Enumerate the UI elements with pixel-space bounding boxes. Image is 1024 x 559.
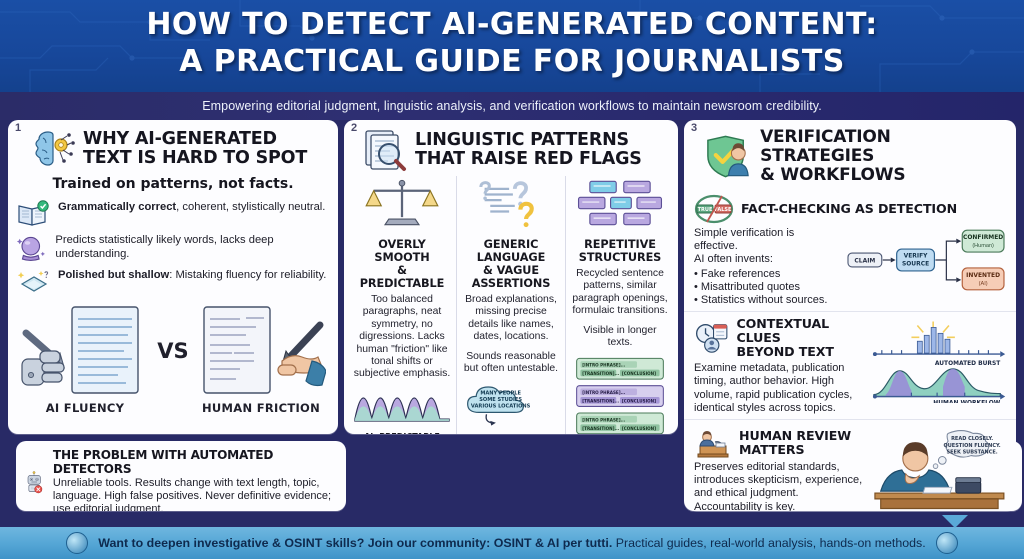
section-1-intro-line1: Simple verification is effective. [694, 227, 841, 253]
flow-confirmed-line1: CONFIRMED [963, 234, 1003, 241]
flow-verify-line1: VERIFY [904, 253, 929, 260]
cloud-line-2: SOME STUDIES [479, 398, 522, 404]
page-title-line1: HOW TO DETECT AI-GENERATED CONTENT: [0, 7, 1024, 43]
svg-text:[TRANSITION]...: [TRANSITION]... [582, 372, 619, 377]
robot-hand-writing-icon [20, 303, 150, 399]
caption-human-friction: HUMAN FRICTION [196, 401, 326, 415]
repeating-blocks-icon [571, 176, 669, 230]
section-human-review: HUMAN REVIEW MATTERS Preserves editorial… [684, 419, 1016, 511]
question-marks-text-icon [462, 176, 560, 230]
section-1-text: Simple verification is effective. AI oft… [694, 227, 841, 307]
svg-text:[CONCLUSION]: [CONCLUSION] [622, 372, 656, 377]
section-1-list: Fake references Misattributed quotes Sta… [694, 268, 841, 308]
panel-2-title-line1: LINGUISTIC PATTERNS [415, 131, 642, 151]
bullet-polished-but-shallow: Polished but shallow: Mistaking fluency … [8, 266, 338, 299]
thinking-journalist-illustration: READ CLOSELY. QUESTION FLUENCY. SEEK SUB… [873, 428, 1006, 511]
chart-label-automated-burst: AUTOMATED BURST [935, 361, 1000, 367]
section-3-title-line1: HUMAN REVIEW [739, 429, 851, 443]
compare-captions: AI FLUENCY HUMAN FRICTION [8, 401, 338, 421]
ai-predictable-waveform-chart [353, 386, 451, 424]
flow-claim-label: CLAIM [854, 257, 875, 264]
editor-desk-icon [694, 428, 732, 458]
shield-check-person-icon [702, 134, 753, 180]
bullet-predicts-statistically: Predicts statistically likely words, lac… [8, 231, 338, 266]
clock-calendar-profile-icon [694, 321, 730, 355]
section-3-body: Preserves editorial standards, introduce… [694, 461, 867, 511]
robot-error-icon [25, 457, 44, 507]
panel-2-title-line2: THAT RAISE RED FLAGS [415, 150, 642, 170]
column-3: 3 VERIFICATION STRATEGIES & WORKFLOWS [684, 120, 1016, 511]
panel-1-lead: Trained on patterns, not facts. [8, 176, 338, 192]
panel-problem-with-automated-detectors: THE PROBLEM WITH AUTOMATED DETECTORS Unr… [16, 441, 346, 511]
specific-facts-callout: NAME:John Doe DATE:Oct 26 LOCATION:Londo… [462, 432, 560, 434]
thought-line-1: READ CLOSELY. [951, 436, 993, 442]
panel-3-title-line2: & WORKFLOWS [760, 166, 1006, 185]
bullet-1-rest: , coherent, stylistically neutral. [176, 201, 325, 213]
cell-2-body2: Sounds reasonable but often untestable. [464, 351, 558, 374]
section-3-title-line2: MATTERS [739, 443, 851, 457]
page-footer[interactable]: Want to deepen investigative & OSINT ski… [0, 527, 1024, 559]
pattern-cell-overly-smooth: OVERLY SMOOTH& PREDICTABLE Too balanced … [348, 176, 456, 434]
svg-text:[INTRO PHRASE]...: [INTRO PHRASE]... [582, 390, 625, 395]
pattern-cell-generic-language: GENERIC LANGUAGE& VAGUE ASSERTIONS Broad… [456, 176, 565, 434]
bottom-card-1-text: Unreliable tools. Results change with te… [53, 477, 337, 511]
flow-verify-line2: SOURCE [902, 261, 929, 268]
cell-3-caption-line2: STRUCTURES [579, 251, 661, 264]
bullet-1-bold: Grammatically correct [58, 201, 176, 213]
subtitle-band: Empowering editorial judgment, linguisti… [0, 92, 1024, 120]
bullet-3-bold: Polished but shallow [58, 269, 169, 281]
bullet-3-rest: : Mistaking fluency for reliability. [169, 269, 326, 281]
cloud-line-3: VARIOUS LOCATIONS [471, 404, 531, 410]
bottom-card-1-title: THE PROBLEM WITH AUTOMATED DETECTORS [53, 448, 337, 476]
flow-invented-line1: INVENTED [966, 272, 1000, 279]
column-2: 2 LINGUISTIC PATTERNS THAT RAISE RED FLA… [344, 120, 678, 434]
balance-scale-icon [353, 176, 451, 230]
list-item: Misattributed quotes [694, 281, 841, 294]
svg-text:[INTRO PHRASE]...: [INTRO PHRASE]... [582, 418, 625, 423]
stamp-true-label: TRUE [698, 207, 713, 213]
brain-gear-icon [30, 128, 76, 170]
section-fact-checking: TRUE FALSE FACT-CHECKING AS DETECTION Si… [684, 189, 1016, 311]
footer-bold-text: Want to deepen investigative & OSINT ski… [98, 536, 612, 550]
vague-claims-cloud-icon: MANY PEOPLE SOME STUDIES VARIOUS LOCATIO… [462, 379, 560, 427]
svg-text:[CONCLUSION]: [CONCLUSION] [622, 426, 656, 431]
panel-linguistic-patterns: 2 LINGUISTIC PATTERNS THAT RAISE RED FLA… [344, 120, 678, 434]
list-item: Statistics without sources. [694, 294, 841, 307]
flow-invented-line2: (AI) [979, 281, 988, 287]
page-subtitle: Empowering editorial judgment, linguisti… [202, 99, 822, 113]
stamp-false-label: FALSE [715, 207, 732, 213]
bullet-grammatically-correct: Grammatically correct, coherent, stylist… [8, 198, 338, 231]
svg-text:[CONCLUSION]: [CONCLUSION] [622, 399, 656, 404]
thought-line-2: QUESTION FLUENCY. [944, 443, 1001, 449]
verification-flow-diagram: CLAIM VERIFY SOURCE CONFIRMED (Human) IN… [847, 227, 1006, 293]
panel-number-2: 2 [351, 122, 357, 134]
main-content: 1 WHY AI-GENERATED TEXT IS HARD TO SPOT … [0, 120, 1024, 525]
open-book-check-icon [16, 200, 50, 228]
template-structure-boxes: [INTRO PHRASE]... [TRANSITION]... [CONCL… [571, 354, 669, 434]
vs-label: VS [157, 339, 188, 363]
cell-3-body2: Visible in longer texts. [583, 325, 656, 348]
cell-2-body: Broad explanations, missing precise deta… [465, 294, 557, 342]
cell-2-caption-line1: GENERIC LANGUAGE [477, 238, 545, 264]
panel-1-title-line2: TEXT IS HARD TO SPOT [83, 149, 307, 169]
crystal-ball-icon [16, 233, 47, 263]
page-title-line2: A PRACTICAL GUIDE FOR JOURNALISTS [0, 43, 1024, 80]
section-1-intro-line2: AI often invents: [694, 253, 841, 266]
panel-why-ai-text-is-hard-to-spot: 1 WHY AI-GENERATED TEXT IS HARD TO SPOT … [8, 120, 338, 434]
compare-ai-vs-human: VS [8, 299, 338, 401]
svg-text:[TRANSITION]...: [TRANSITION]... [582, 399, 619, 404]
pattern-cell-repetitive-structures: REPETITIVESTRUCTURES Recycled sentence p… [565, 176, 674, 434]
footer-normal-text: Practical guides, real-world analysis, h… [612, 536, 925, 550]
document-magnifier-icon [362, 128, 408, 172]
cell-3-body: Recycled sentence patterns, similar para… [572, 268, 667, 316]
section-2-title-line1: CONTEXTUAL CLUES [737, 317, 862, 345]
thought-line-3: SEEK SUBSTANCE. [947, 450, 998, 456]
panel-number-1: 1 [15, 122, 21, 134]
list-item: Fake references [694, 268, 841, 281]
section-2-body: Examine metadata, publication timing, au… [694, 362, 862, 415]
cell-2-caption-line2: & VAGUE ASSERTIONS [472, 264, 551, 290]
flow-confirmed-line2: (Human) [972, 243, 994, 249]
footer-notch-decoration [942, 515, 968, 528]
footer-text: Want to deepen investigative & OSINT ski… [98, 536, 925, 550]
cell-1-caption-line2: & PREDICTABLE [360, 264, 445, 290]
cell-1-caption-line1: OVERLY SMOOTH [374, 238, 429, 264]
section-2-title-line2: BEYOND TEXT [737, 345, 862, 359]
human-hand-writing-icon [196, 303, 326, 399]
panel-3-title-line1: VERIFICATION STRATEGIES [760, 128, 1006, 166]
true-false-stamp-icon: TRUE FALSE [694, 194, 734, 224]
cell-1-body: Too balanced paragraphs, neat symmetry, … [353, 294, 451, 381]
section-contextual-clues: CONTEXTUAL CLUES BEYOND TEXT Examine met… [684, 311, 1016, 419]
caption-ai-fluency: AI FLUENCY [20, 401, 150, 415]
panel-verification-strategies: 3 VERIFICATION STRATEGIES & WORKFLOWS [684, 120, 1016, 511]
bullet-2-rest: Predicts statistically likely words, lac… [55, 234, 273, 260]
panel-1-title-line1: WHY AI-GENERATED [83, 130, 307, 150]
svg-text:[TRANSITION]...: [TRANSITION]... [582, 426, 619, 431]
publication-activity-charts: AUTOMATED BURST HUMAN WORKFLOW [868, 317, 1006, 403]
column-1: 1 WHY AI-GENERATED TEXT IS HARD TO SPOT … [8, 120, 338, 434]
chart-label-human-workflow: HUMAN WORKFLOW [933, 401, 1000, 404]
cell-3-caption-line1: REPETITIVE [584, 238, 656, 251]
wave-label-ai: AI: PREDICTABLE FLOW [353, 430, 451, 434]
polished-surface-icon [16, 268, 50, 296]
section-1-title: FACT-CHECKING AS DETECTION [741, 202, 957, 216]
panel-number-3: 3 [691, 122, 697, 134]
svg-text:[INTRO PHRASE]...: [INTRO PHRASE]... [582, 363, 625, 368]
cloud-line-1: MANY PEOPLE [480, 391, 521, 397]
page-header: HOW TO DETECT AI-GENERATED CONTENT: A PR… [0, 0, 1024, 92]
